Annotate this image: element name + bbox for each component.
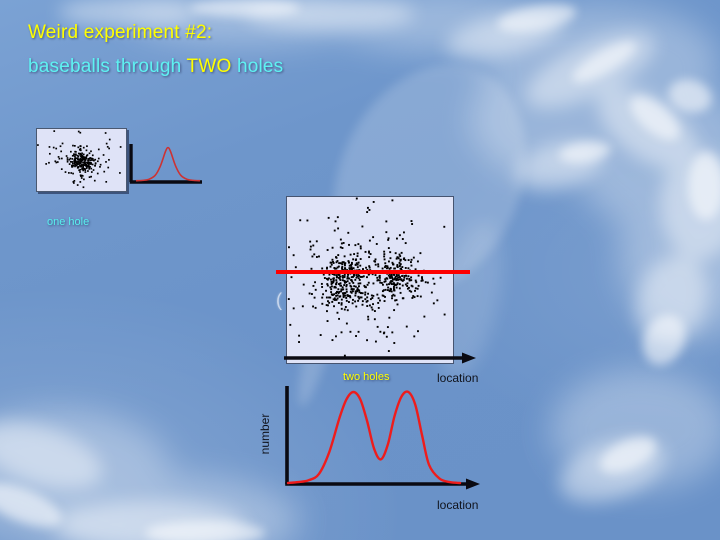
title-line-1: Weird experiment #2: <box>28 16 283 50</box>
title-line-2: baseballs through TWO holes <box>28 50 283 84</box>
title-block: Weird experiment #2: baseballs through T… <box>28 16 283 84</box>
detector-screen-line <box>276 270 470 274</box>
distribution-x-axis-label: location <box>437 498 478 512</box>
title-line-2-suffix: holes <box>231 56 283 77</box>
two-holes-scatter-plot <box>287 197 453 363</box>
partial-paren-glyph: ( <box>276 290 282 311</box>
two-holes-caption: two holes <box>343 371 389 383</box>
two-holes-x-axis-label: location <box>437 371 478 385</box>
title-line-1-text: Weird experiment #2: <box>28 22 212 43</box>
title-line-2-emphasis: TWO <box>187 56 232 77</box>
one-hole-bell-curve <box>136 148 200 181</box>
distribution-y-axis-label: number <box>235 404 295 464</box>
bimodal-distribution-curve <box>288 392 460 483</box>
one-hole-distribution-plot <box>128 142 204 186</box>
distribution-plot <box>280 384 485 492</box>
one-hole-scatter-panel <box>36 128 127 192</box>
slide-canvas: Weird experiment #2: baseballs through T… <box>0 0 720 540</box>
one-hole-scatter-plot <box>37 129 126 191</box>
one-hole-caption: one hole <box>47 216 89 228</box>
title-line-2-prefix: baseballs through <box>28 56 187 77</box>
two-holes-scatter-panel <box>286 196 454 364</box>
two-holes-x-axis <box>282 352 480 372</box>
